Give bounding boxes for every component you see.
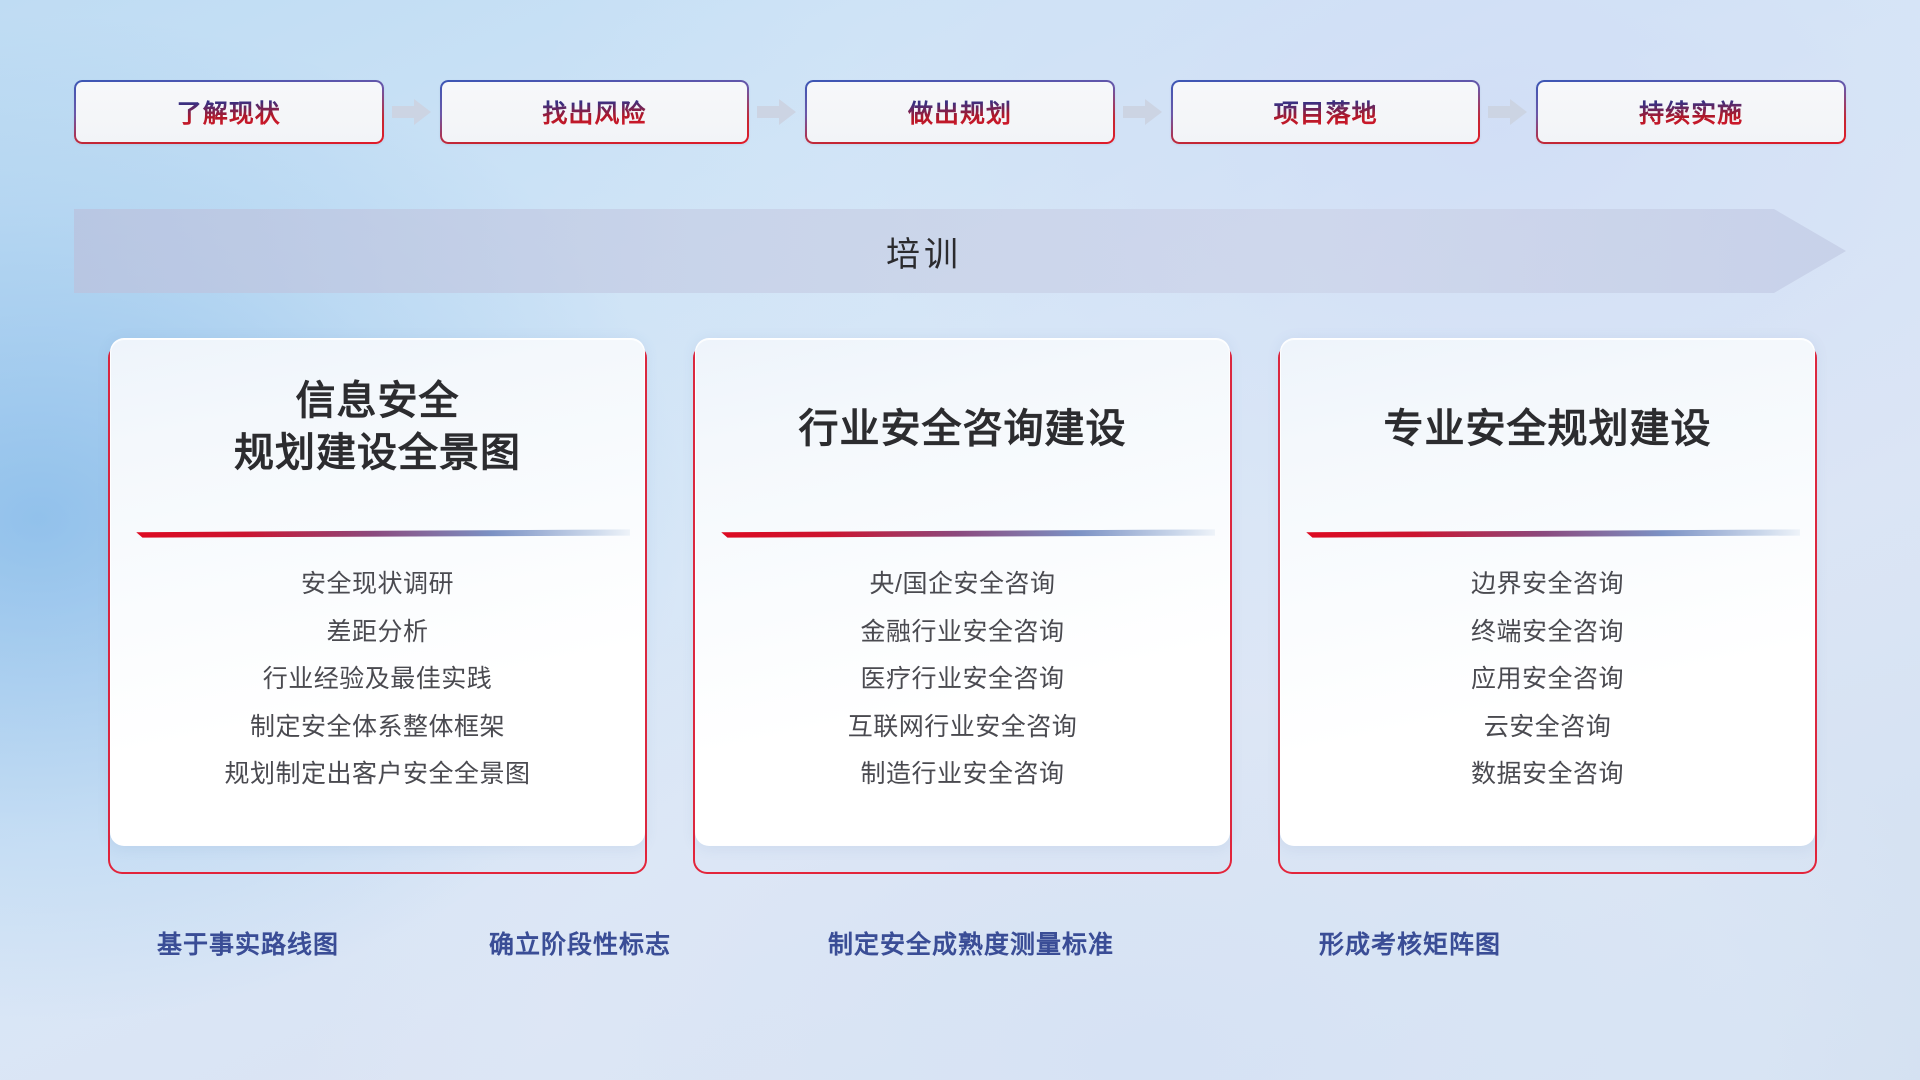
card-divider-2 — [720, 529, 1215, 538]
caption-4: 形成考核矩阵图 — [1319, 925, 1501, 961]
card-industry-security-consulting[interactable]: 行业安全咨询建设 — [695, 338, 1230, 846]
list-item: 云安全咨询 — [1484, 710, 1612, 746]
card-title-1-line2: 规划建设全景图 — [234, 427, 521, 479]
list-item: 差距分析 — [326, 615, 428, 651]
step-box-1[interactable]: 了解现状 — [74, 80, 384, 144]
step-arrow-icon-4 — [1480, 80, 1536, 144]
card-divider-3 — [1305, 529, 1800, 538]
step-arrow-icon-2 — [749, 80, 805, 144]
list-item: 医疗行业安全咨询 — [860, 662, 1064, 698]
card-title-1: 信息安全 规划建设全景图 — [234, 375, 521, 479]
list-item: 应用安全咨询 — [1471, 662, 1624, 698]
list-item: 安全现状调研 — [301, 567, 454, 603]
step-label-4: 项目落地 — [1274, 94, 1378, 130]
card-title-2: 行业安全咨询建设 — [799, 403, 1127, 455]
step-arrow-icon-3 — [1115, 80, 1171, 144]
card-title-1-line1: 信息安全 — [234, 375, 521, 427]
card-title-3-line1: 专业安全规划建设 — [1384, 403, 1712, 455]
card-wrapper-1: 信息安全 规划建设全景图 — [110, 338, 645, 872]
step-box-2[interactable]: 找出风险 — [440, 80, 750, 144]
step-label-5: 持续实施 — [1639, 94, 1743, 130]
caption-2: 确立阶段性标志 — [489, 925, 671, 961]
banner-label-training: 培训 — [74, 209, 1774, 293]
list-item: 数据安全咨询 — [1471, 757, 1624, 793]
card-professional-security-planning[interactable]: 专业安全规划建设 — [1280, 338, 1815, 846]
card-title-2-line1: 行业安全咨询建设 — [799, 403, 1127, 455]
card-divider-1 — [135, 529, 630, 538]
training-banner-arrow: 培训 — [74, 209, 1846, 293]
step-arrow-icon-1 — [384, 80, 440, 144]
card-list-1: 安全现状调研 差距分析 行业经验及最佳实践 制定安全体系整体框架 规划制定出客户… — [111, 567, 644, 793]
step-box-3[interactable]: 做出规划 — [805, 80, 1115, 144]
card-group: 信息安全 规划建设全景图 — [110, 338, 1815, 872]
list-item: 制造行业安全咨询 — [860, 757, 1064, 793]
card-list-2: 央/国企安全咨询 金融行业安全咨询 医疗行业安全咨询 互联网行业安全咨询 制造行… — [696, 567, 1229, 793]
list-item: 金融行业安全咨询 — [860, 615, 1064, 651]
step-box-5[interactable]: 持续实施 — [1536, 80, 1846, 144]
list-item: 互联网行业安全咨询 — [848, 710, 1078, 746]
list-item: 央/国企安全咨询 — [870, 567, 1056, 603]
card-wrapper-3: 专业安全规划建设 — [1280, 338, 1815, 872]
list-item: 边界安全咨询 — [1471, 567, 1624, 603]
list-item: 行业经验及最佳实践 — [263, 662, 493, 698]
list-item: 制定安全体系整体框架 — [250, 710, 505, 746]
card-title-3: 专业安全规划建设 — [1384, 403, 1712, 455]
card-information-security-blueprint[interactable]: 信息安全 规划建设全景图 — [110, 338, 645, 846]
caption-1: 基于事实路线图 — [157, 925, 339, 961]
caption-3: 制定安全成熟度测量标准 — [828, 925, 1114, 961]
step-label-1: 了解现状 — [177, 94, 281, 130]
process-step-flow: 了解现状 找出风险 做出规划 项目落地 持续实施 — [74, 80, 1846, 144]
card-list-3: 边界安全咨询 终端安全咨询 应用安全咨询 云安全咨询 数据安全咨询 — [1281, 567, 1814, 793]
step-label-2: 找出风险 — [542, 94, 646, 130]
list-item: 规划制定出客户安全全景图 — [224, 757, 530, 793]
step-box-4[interactable]: 项目落地 — [1171, 80, 1481, 144]
card-wrapper-2: 行业安全咨询建设 — [695, 338, 1230, 872]
list-item: 终端安全咨询 — [1471, 615, 1624, 651]
caption-row: 基于事实路线图 确立阶段性标志 制定安全成熟度测量标准 形成考核矩阵图 — [0, 925, 1920, 971]
step-label-3: 做出规划 — [908, 94, 1012, 130]
